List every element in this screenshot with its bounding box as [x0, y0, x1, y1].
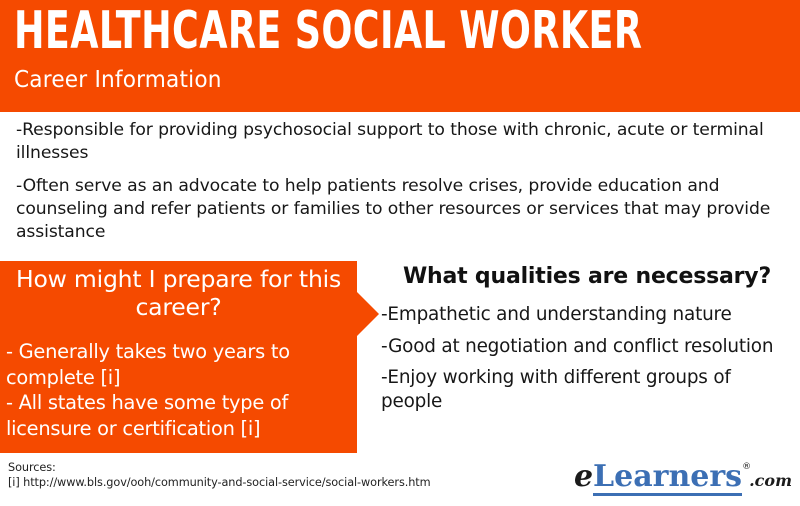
qualities-section: What qualities are necessary? -Empatheti… — [381, 263, 793, 413]
page-title: HEALTHCARE SOCIAL WORKER — [14, 2, 642, 60]
callout-arrow-icon — [357, 292, 379, 336]
logo-word-learners: Learners — [593, 462, 742, 496]
preparation-bullet-2: - All states have some type of licensure… — [6, 390, 354, 441]
preparation-bullet-1: - Generally takes two years to complete … — [6, 339, 354, 390]
preparation-bullet-list: - Generally takes two years to complete … — [6, 339, 354, 441]
source-link-1[interactable]: [i] http://www.bls.gov/ooh/community-and… — [8, 476, 431, 491]
preparation-callout-box: How might I prepare for this career? - G… — [0, 261, 357, 453]
infographic-page: HEALTHCARE SOCIAL WORKER Career Informat… — [0, 0, 800, 506]
qualities-bullet-2: -Good at negotiation and conflict resolu… — [381, 335, 793, 359]
intro-bullet-2: -Often serve as an advocate to help pati… — [16, 175, 784, 244]
intro-section: -Responsible for providing psychosocial … — [16, 119, 784, 244]
page-subtitle: Career Information — [14, 66, 222, 94]
preparation-heading: How might I prepare for this career? — [8, 265, 349, 321]
header-band: HEALTHCARE SOCIAL WORKER Career Informat… — [0, 0, 800, 112]
intro-bullet-1: -Responsible for providing psychosocial … — [16, 119, 784, 165]
qualities-bullet-1: -Empathetic and understanding nature — [381, 303, 793, 327]
qualities-heading: What qualities are necessary? — [381, 263, 793, 291]
sources-label: Sources: — [8, 461, 431, 476]
elearners-logo[interactable]: eLearners®.com — [574, 462, 792, 500]
logo-letter-e: e — [574, 462, 593, 492]
logo-tld-com: .com — [749, 473, 792, 489]
sources-block: Sources: [i] http://www.bls.gov/ooh/comm… — [8, 461, 431, 490]
qualities-bullet-3: -Enjoy working with different groups of … — [381, 366, 793, 413]
registered-trademark-icon: ® — [742, 463, 751, 472]
qualities-bullet-list: -Empathetic and understanding nature -Go… — [381, 303, 793, 413]
